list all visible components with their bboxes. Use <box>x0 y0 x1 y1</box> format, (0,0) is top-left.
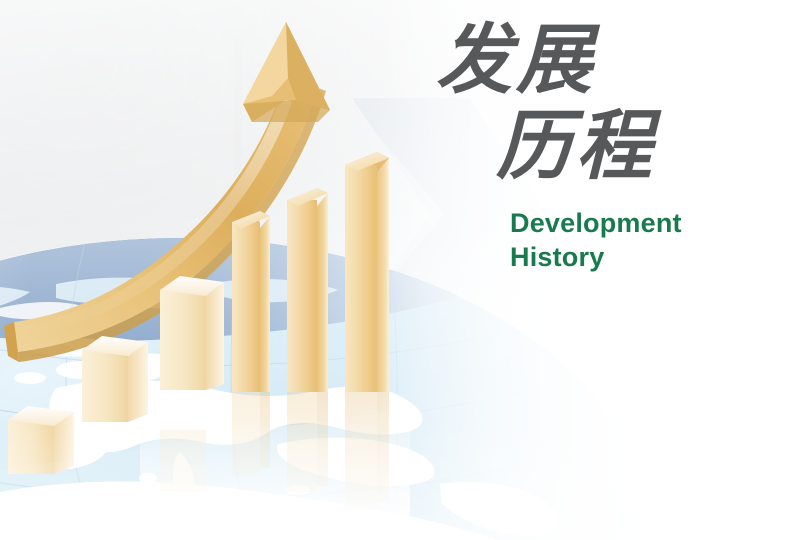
banner-canvas: 发展 历程 Development History <box>0 0 800 540</box>
title-chinese-line-2: 历程 <box>496 108 762 184</box>
title-block: 发展 历程 Development History <box>432 22 762 275</box>
title-english-line-1: Development <box>510 206 762 240</box>
title-chinese-line-1: 发展 <box>436 22 762 98</box>
title-english-line-2: History <box>510 240 762 274</box>
title-english-block: Development History <box>510 206 762 275</box>
